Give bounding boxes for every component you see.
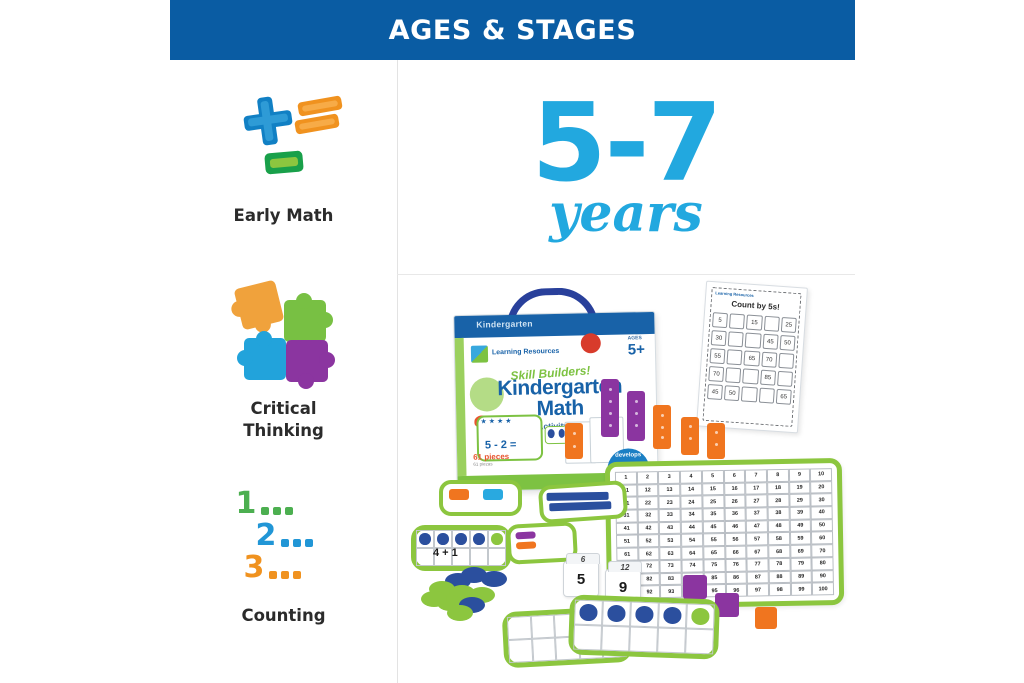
hundreds-chart-cell: 13: [659, 483, 681, 496]
worksheet-cell: 5: [712, 312, 728, 328]
hundreds-chart-cell: 40: [811, 506, 833, 519]
hundreds-chart-cell: 32: [637, 509, 659, 522]
worksheet-cell: [745, 333, 761, 349]
age-range-block: 5-7 years: [397, 60, 855, 274]
worksheet-cell: [725, 367, 741, 383]
hundreds-chart-cell: 62: [638, 547, 660, 560]
worksheet-cell: 45: [762, 334, 778, 350]
chip-card: [439, 480, 522, 516]
hundreds-chart-cell: 6: [723, 470, 745, 483]
feature-label-line2: Thinking: [243, 421, 324, 440]
hundreds-chart-cell: 65: [703, 546, 725, 559]
worksheet-cell: 30: [711, 330, 727, 346]
box-left-band: [455, 338, 467, 476]
hundreds-chart-cell: 16: [724, 482, 746, 495]
hundreds-chart-cell: 78: [768, 558, 790, 571]
worksheet-cell: 85: [760, 370, 776, 386]
hundreds-chart-cell: 53: [659, 534, 681, 547]
hundreds-chart-cell: 51: [616, 535, 638, 548]
hundreds-chart-cell: 22: [637, 497, 659, 510]
hundreds-chart-cell: 98: [769, 583, 791, 596]
hundreds-chart-cell: 56: [724, 533, 746, 546]
hundreds-chart-cell: 46: [724, 520, 746, 533]
hundreds-chart-cell: 90: [812, 570, 834, 583]
hundreds-chart-cell: 26: [724, 495, 746, 508]
worksheet-cell: [778, 353, 794, 369]
hundreds-chart-cell: 44: [681, 521, 703, 534]
blue-rod-2: [549, 501, 611, 511]
hundreds-chart-cell: 76: [725, 559, 747, 572]
hundreds-chart-cell: 88: [769, 570, 791, 583]
die-top-value-1: 6: [566, 553, 600, 564]
feature-item-early-math: Early Math: [170, 85, 397, 227]
age-range-value: 5-7: [531, 94, 720, 193]
hundreds-chart-cell: 52: [638, 535, 660, 548]
hundreds-chart-cell: 82: [638, 573, 660, 586]
worksheet-row: 556570: [709, 348, 794, 369]
worksheet-row: 7085: [708, 366, 793, 387]
hundreds-chart-cell: 36: [724, 508, 746, 521]
card-number-grid: 515253045505565707085455065: [707, 312, 797, 405]
orange-chip-2: [516, 541, 536, 549]
count-by-5s-card: Learning Resources Count by 5s! 51525304…: [696, 281, 808, 434]
hundreds-chart-cell: 58: [768, 532, 790, 545]
worksheet-cell: [727, 349, 743, 365]
hundreds-chart-cell: 97: [747, 584, 769, 597]
puzzle-pieces-icon: [214, 278, 354, 388]
hundreds-chart-cell: 74: [682, 559, 704, 572]
feature-label-critical-thinking: Critical Thinking: [243, 398, 324, 443]
hundreds-chart-cell: 37: [746, 507, 768, 520]
box-stars: ★★★★: [480, 417, 513, 426]
hundreds-chart-cell: 28: [767, 494, 789, 507]
hundreds-chart-cell: 55: [703, 533, 725, 546]
hundreds-chart-cell: 50: [811, 519, 833, 532]
hundreds-chart-cell: 35: [702, 508, 724, 521]
hundreds-chart-cell: 66: [725, 546, 747, 559]
worksheet-cell: 55: [709, 348, 725, 364]
hundreds-chart-cell: 87: [747, 571, 769, 584]
box-red-seal-icon: [581, 333, 601, 353]
hundreds-chart-cell: 61: [616, 548, 638, 561]
orange-chip: [449, 489, 469, 500]
hundreds-chart-cell: 29: [789, 494, 811, 507]
hundreds-chart-cell: 15: [702, 483, 724, 496]
worksheet-cell: [777, 371, 793, 387]
hundreds-chart-cell: 86: [725, 571, 747, 584]
box-develops-label: develops: [607, 452, 649, 459]
hundreds-chart-cell: 47: [746, 520, 768, 533]
feature-label-counting: Counting: [241, 605, 325, 627]
box-top-band: Kindergarten: [454, 312, 654, 338]
hundreds-chart-cell: 42: [637, 522, 659, 535]
snap-cube-stack-1: [601, 379, 619, 437]
hundreds-chart-cell: 43: [659, 522, 681, 535]
hundreds-chart-cell: 33: [659, 509, 681, 522]
blue-chip: [483, 489, 503, 500]
hundreds-chart-cell: 4: [680, 470, 702, 483]
hundreds-chart-cell: 17: [745, 482, 767, 495]
brand-cube-icon: [471, 345, 488, 362]
hundreds-chart-cell: 64: [681, 547, 703, 560]
counting-numeral-2: 2: [256, 521, 277, 551]
feature-item-critical-thinking: Critical Thinking: [170, 278, 397, 443]
hundreds-chart-cell: 70: [812, 544, 834, 557]
box-spine-title: Kindergarten: [476, 318, 533, 329]
hundreds-chart-cell: 41: [616, 522, 638, 535]
hundreds-chart-cell: 9: [788, 468, 810, 481]
feature-list: Early Math Critical Thinking 1: [170, 60, 397, 683]
worksheet-cell: 65: [744, 350, 760, 366]
hundreds-chart-cell: 20: [810, 481, 832, 494]
hundreds-chart-cell: 83: [660, 572, 682, 585]
purple-chip: [515, 531, 535, 539]
ages-and-stages-infographic: AGES & STAGES Early Math: [0, 0, 1024, 683]
hundreds-chart-cell: 79: [790, 557, 812, 570]
page-title: AGES & STAGES: [389, 15, 637, 46]
hundreds-chart-cell: 68: [768, 545, 790, 558]
hundreds-chart-cell: 8: [767, 469, 789, 482]
hundreds-chart-cell: 27: [746, 495, 768, 508]
hundreds-chart-cell: 23: [659, 496, 681, 509]
hundreds-chart-cell: 38: [767, 507, 789, 520]
hundreds-chart-cell: 80: [812, 557, 834, 570]
box-ages-badge: AGES 5+: [628, 336, 646, 358]
hundreds-chart-cell: 59: [790, 532, 812, 545]
hundreds-chart-cell: 12: [637, 484, 659, 497]
numbers-counting-icon: 1 2 3: [214, 485, 354, 595]
hundreds-chart-cell: 24: [680, 496, 702, 509]
worksheet-cell: 50: [779, 335, 795, 351]
worksheet-cell: [741, 386, 757, 402]
hundreds-chart-cell: 73: [660, 560, 682, 573]
box-piece-count-note: 61 piezas: [473, 461, 509, 467]
snap-cube-stack-3: [653, 405, 671, 449]
hundreds-chart-cell: 75: [703, 559, 725, 572]
feature-label-early-math: Early Math: [234, 205, 334, 227]
hundreds-chart-cell: 25: [702, 495, 724, 508]
hundreds-chart-cell: 99: [790, 583, 812, 596]
age-range-unit: years: [549, 188, 703, 240]
hundreds-chart-cell: 39: [789, 507, 811, 520]
die-top-value-2: 12: [608, 561, 642, 572]
die-front-value-1: 5: [577, 571, 585, 588]
tenframe-card-left: [411, 525, 511, 571]
hundreds-chart-cell: 77: [747, 558, 769, 571]
hundreds-chart-cell: 89: [790, 570, 812, 583]
math-symbols-icon: [214, 85, 354, 195]
worksheet-cell: [758, 388, 774, 404]
feature-item-counting: 1 2 3 Counting: [170, 485, 397, 627]
hundreds-chart-cell: 18: [767, 482, 789, 495]
worksheet-cell: [729, 313, 745, 329]
hundreds-chart-cell: 45: [703, 521, 725, 534]
snap-cube-loose-3: [755, 607, 777, 629]
hundreds-chart-cell: 67: [746, 545, 768, 558]
worksheet-cell: 65: [776, 389, 792, 405]
snap-cube-stack-4: [681, 417, 699, 455]
worksheet-cell: 45: [707, 384, 723, 400]
worksheet-row: 304550: [711, 330, 796, 351]
snap-cube-loose-1: [683, 575, 707, 599]
snap-cube-stack-5: [707, 423, 725, 459]
counting-numeral-1: 1: [236, 489, 257, 519]
hundreds-chart-cell: 19: [789, 481, 811, 494]
hundreds-chart-cell: 60: [811, 532, 833, 545]
equation-card-4plus1: 4 + 1: [433, 547, 458, 559]
die-front-value-2: 9: [619, 579, 627, 596]
hundreds-chart-cell: 7: [745, 469, 767, 482]
blue-rod-1: [547, 492, 609, 501]
hundreds-chart-cell: 2: [637, 471, 659, 484]
hundreds-chart-cell: 54: [681, 534, 703, 547]
box-equation: 5 - 2 =: [485, 439, 517, 452]
snap-cube-single-1: [565, 423, 583, 459]
hundreds-chart-cell: 3: [658, 471, 680, 484]
hundreds-chart-cell: 69: [790, 545, 812, 558]
product-photo: Kindergarten Learning Resources AGES 5+ …: [397, 275, 855, 683]
hundreds-chart-grid: 1234567891011121314151617181920212223242…: [615, 468, 834, 599]
counting-numeral-3: 3: [244, 553, 265, 583]
hundreds-chart-cell: 49: [789, 519, 811, 532]
header-bar: AGES & STAGES: [170, 0, 855, 60]
number-rod-card: [538, 480, 628, 524]
brand-logo: Learning Resources: [471, 344, 560, 363]
hundreds-chart-cell: 57: [746, 533, 768, 546]
worksheet-cell: [763, 316, 779, 332]
box-piece-count: 61 pieces 61 piezas: [473, 452, 509, 467]
worksheet-cell: 15: [746, 315, 762, 331]
tenframe-card-bottom-right: [568, 594, 720, 659]
hundreds-chart-cell: 30: [811, 494, 833, 507]
brand-name: Learning Resources: [492, 348, 559, 357]
box-title-line2: Math: [536, 396, 583, 420]
number-die-5: 5 6: [563, 561, 599, 597]
worksheet-cell: 70: [761, 352, 777, 368]
worksheet-cell: [743, 368, 759, 384]
worksheet-cell: [728, 331, 744, 347]
hundreds-chart-cell: 48: [768, 520, 790, 533]
box-ages-value: 5+: [628, 341, 645, 358]
worksheet-cell: 25: [781, 317, 797, 333]
hundreds-chart-cell: 63: [660, 547, 682, 560]
hundreds-chart-cell: 14: [680, 483, 702, 496]
worksheet-cell: 70: [708, 366, 724, 382]
snap-cube-stack-2: [627, 391, 645, 441]
hundreds-chart-cell: 34: [681, 508, 703, 521]
hundreds-chart-cell: 5: [702, 470, 724, 483]
hundreds-chart-cell: 10: [810, 468, 832, 481]
hundreds-chart-cell: 93: [660, 585, 682, 598]
worksheet-cell: 50: [724, 385, 740, 401]
feature-label-line1: Critical: [250, 399, 316, 418]
hundreds-chart-cell: 100: [812, 582, 834, 595]
box-piece-count-value: 61 pieces: [473, 452, 509, 462]
